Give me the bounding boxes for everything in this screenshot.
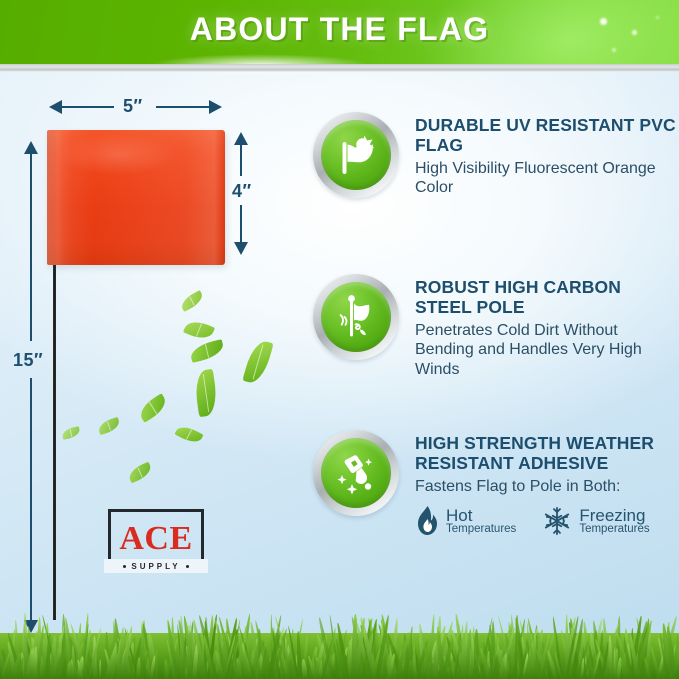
feature-description: Penetrates Cold Dirt Without Bending and… <box>415 321 679 380</box>
temperature-subtitle: Temperatures <box>579 524 649 536</box>
feature-badge <box>313 274 399 360</box>
dimension-height-label: 4″ <box>232 181 252 202</box>
feature-text: ROBUST HIGH CARBON STEEL POLE Penetrates… <box>415 274 679 380</box>
temperature-labels: Hot Temperatures <box>446 507 516 536</box>
feature-badge <box>313 430 399 516</box>
logo-dot-icon <box>186 565 189 568</box>
temperature-title: Freezing <box>579 507 649 524</box>
feature-description: High Visibility Fluorescent Orange Color <box>415 159 679 198</box>
logo-brand-text: ACE <box>119 522 192 556</box>
flag-sun-icon <box>321 120 391 190</box>
dimension-pole-label: 15″ <box>13 350 43 371</box>
feature-title: HIGH STRENGTH WEATHER RESISTANT ADHESIVE <box>415 434 679 474</box>
logo-sub-text: SUPPLY <box>131 562 180 571</box>
temperature-freezing: Freezing Temperatures <box>542 505 649 537</box>
flag-pole-wind-icon <box>321 282 391 352</box>
flame-icon <box>415 505 439 537</box>
temperature-title: Hot <box>446 507 516 524</box>
feature-description: Fastens Flag to Pole in Both: <box>415 477 679 497</box>
feature-title: ROBUST HIGH CARBON STEEL POLE <box>415 278 679 318</box>
adhesive-bottle-icon <box>321 438 391 508</box>
feature-title: DURABLE UV RESISTANT PVC FLAG <box>415 116 679 156</box>
snowflake-icon <box>542 505 572 537</box>
grass-blade <box>99 659 102 679</box>
temperature-row: Hot Temperatures <box>415 505 679 537</box>
dimension-width-label: 5″ <box>123 96 143 117</box>
feature-badge <box>313 112 399 198</box>
temperature-hot: Hot Temperatures <box>415 505 516 537</box>
feature-text: HIGH STRENGTH WEATHER RESISTANT ADHESIVE… <box>415 430 679 537</box>
feature-item-uv-resistant: DURABLE UV RESISTANT PVC FLAG High Visib… <box>313 112 679 198</box>
logo-sub-wrap: SUPPLY <box>104 559 208 573</box>
sparkle-icon <box>612 48 616 52</box>
feature-text: DURABLE UV RESISTANT PVC FLAG High Visib… <box>415 112 679 198</box>
feature-item-adhesive: HIGH STRENGTH WEATHER RESISTANT ADHESIVE… <box>313 430 679 537</box>
feature-item-steel-pole: ROBUST HIGH CARBON STEEL POLE Penetrates… <box>313 274 679 380</box>
temperature-subtitle: Temperatures <box>446 524 516 536</box>
infographic-canvas: ABOUT THE FLAG 5″ 4″ 15″ <box>0 0 679 679</box>
temperature-labels: Freezing Temperatures <box>579 507 649 536</box>
banner-title: ABOUT THE FLAG <box>0 11 679 48</box>
logo-dot-icon <box>123 565 126 568</box>
orange-flag <box>47 130 225 265</box>
grass-strip <box>0 593 679 679</box>
banner-metal-strip <box>0 64 679 72</box>
